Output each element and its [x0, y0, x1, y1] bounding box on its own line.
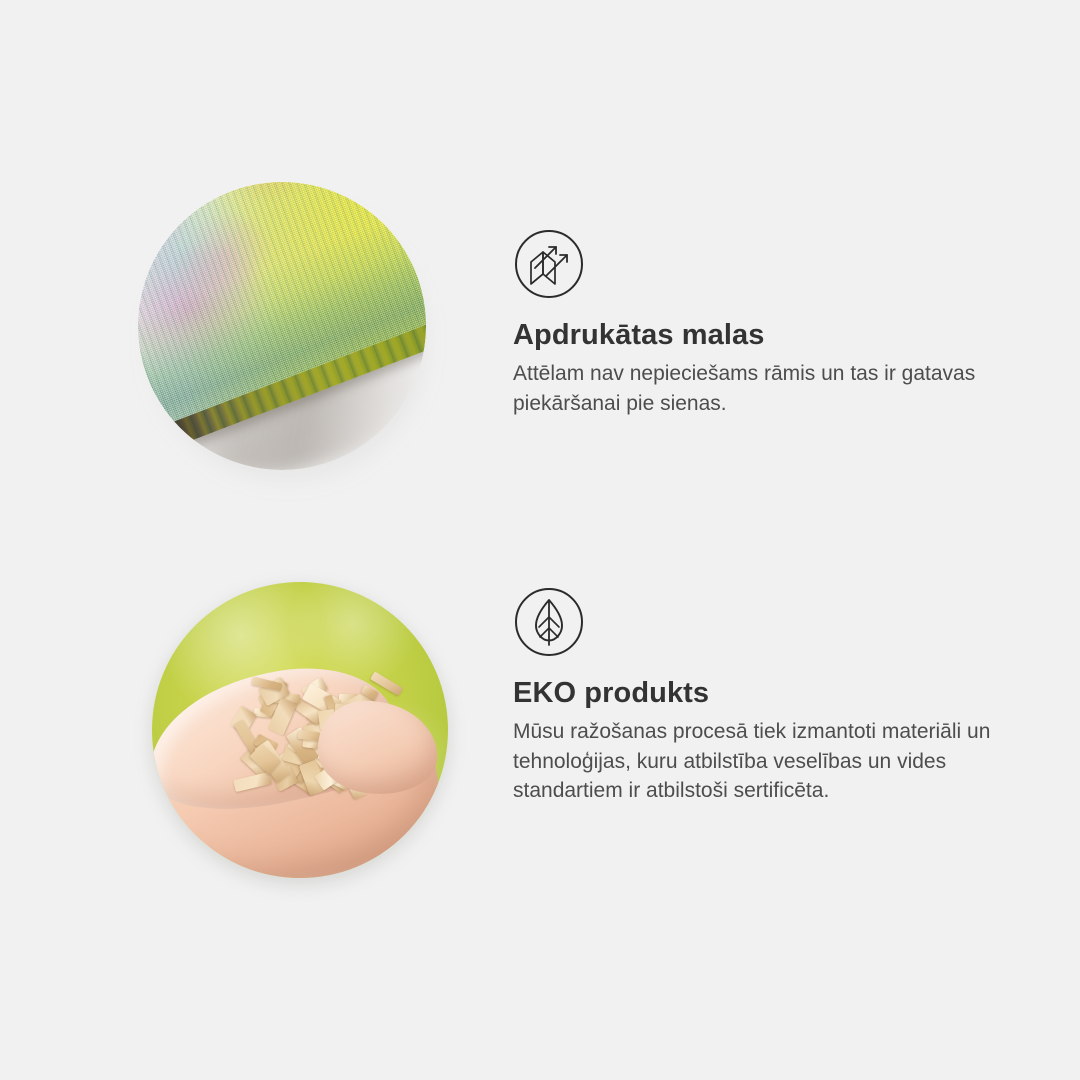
product-features-page: Apdrukātas malas Attēlam nav nepieciešam…	[0, 0, 1080, 1080]
wood-chip	[233, 772, 271, 792]
photo-circle-mask-2	[152, 582, 448, 878]
feature-description-1: Attēlam nav nepieciešams rāmis un tas ir…	[513, 359, 993, 419]
hands-with-wood-chips-photo	[152, 582, 448, 878]
feature-description-2: Mūsu ražošanas procesā tiek izmantoti ma…	[513, 717, 993, 806]
feature-text-block-2: EKO produkts Mūsu ražošanas procesā tiek…	[513, 586, 1013, 806]
canvas-wrapped-edge-icon	[513, 228, 585, 300]
feature-text-block-1: Apdrukātas malas Attēlam nav nepieciešam…	[513, 228, 1013, 418]
feature-title-1: Apdrukātas malas	[513, 318, 1013, 353]
feature-title-2: EKO produkts	[513, 676, 1013, 711]
leaf-icon	[513, 586, 585, 658]
photo-circle-mask	[138, 182, 426, 470]
canvas-corner-photo	[138, 182, 426, 500]
